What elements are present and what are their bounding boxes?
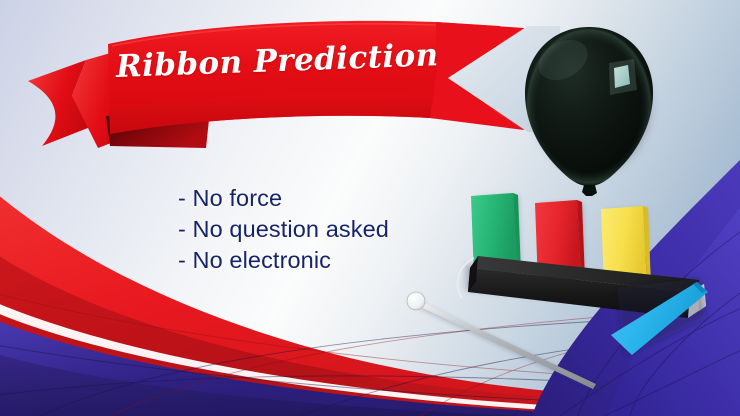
slide-canvas: Ribbon Prediction [0, 0, 740, 416]
bullet-item-1: - No force [178, 183, 498, 214]
bullet-item-3: - No electronic [178, 245, 498, 276]
bullet-list: - No force - No question asked - No elec… [178, 183, 498, 276]
bullet-item-2: - No question asked [178, 214, 498, 245]
card-blue-fallen [611, 278, 708, 356]
